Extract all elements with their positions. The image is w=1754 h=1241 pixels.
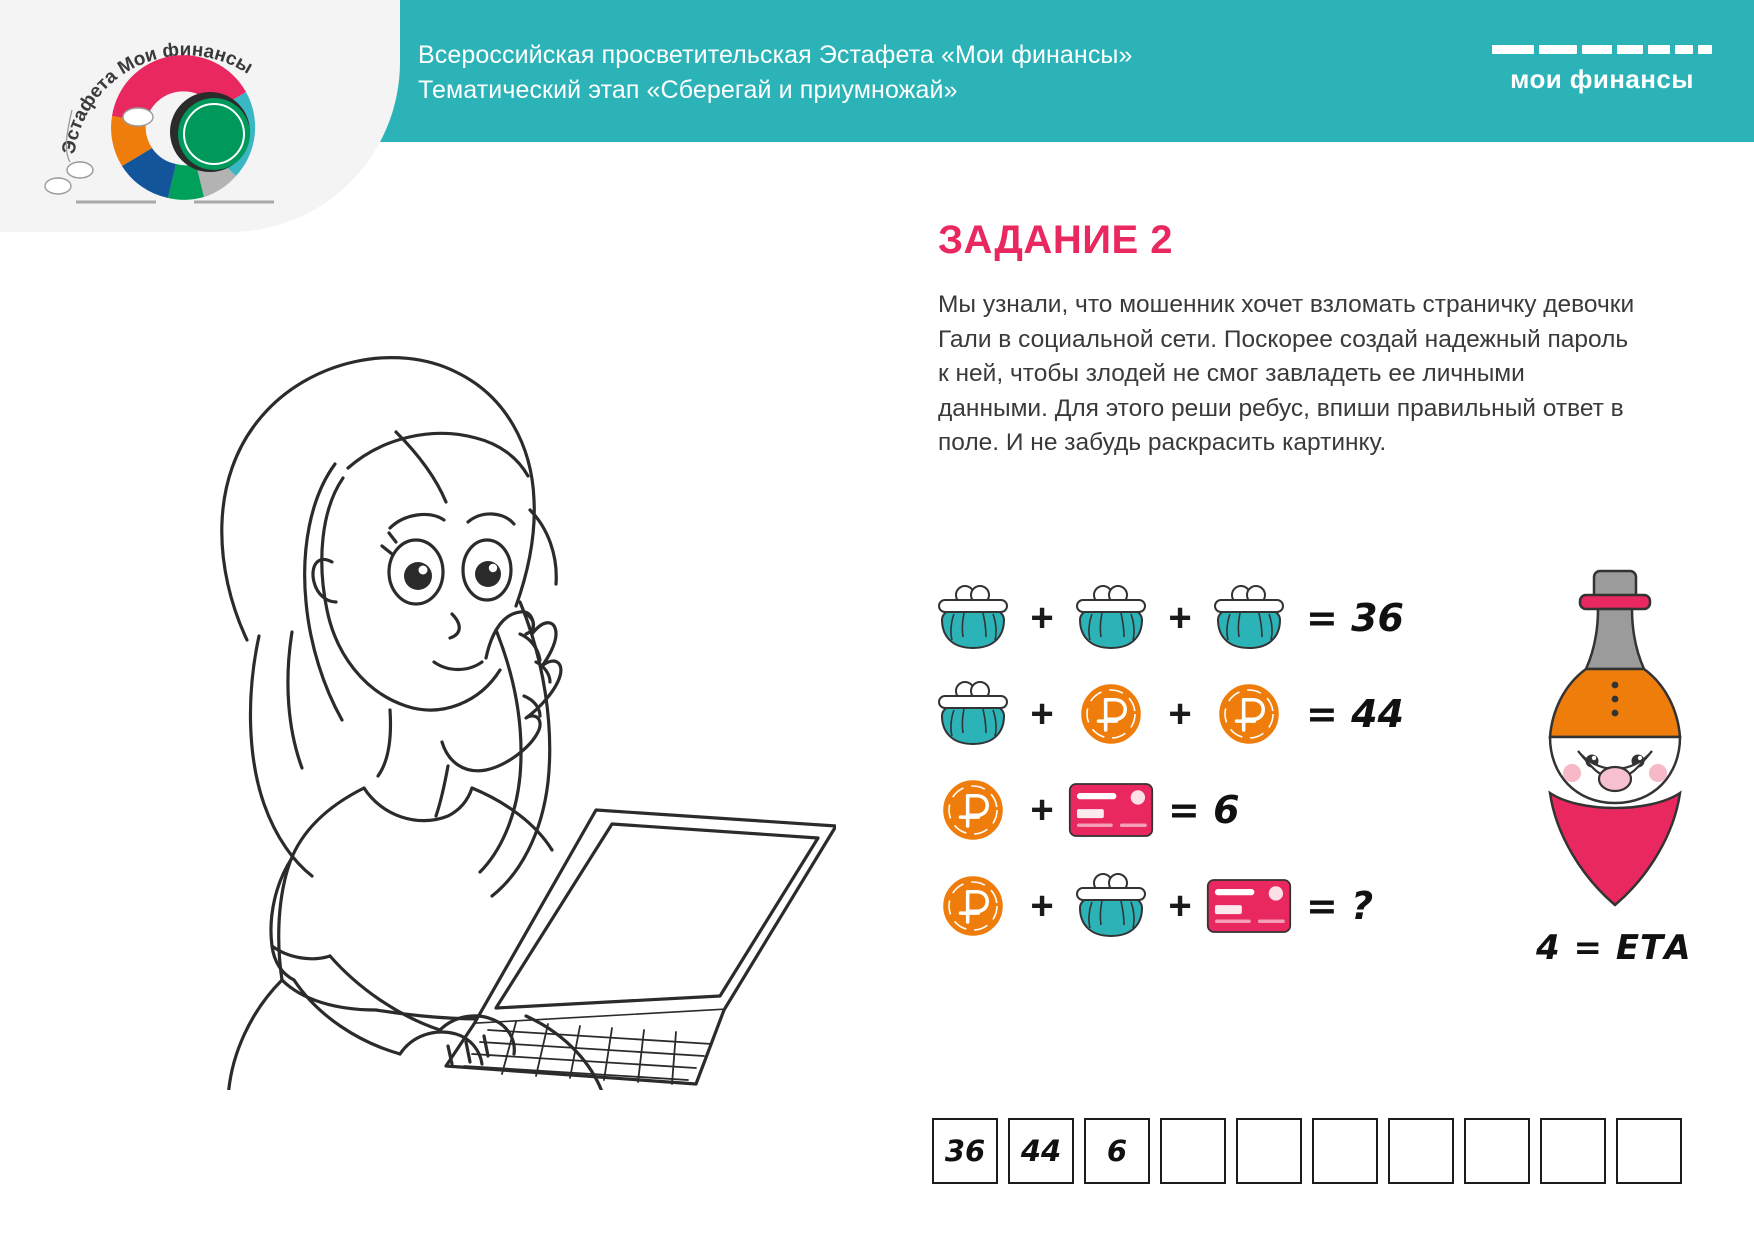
plus-sign: +	[1154, 694, 1206, 734]
equation-result: = 6	[1168, 788, 1240, 832]
answer-box-9[interactable]	[1540, 1118, 1606, 1184]
brand-dash-6	[1698, 45, 1712, 54]
girl-with-laptop-illustration	[96, 210, 836, 1090]
answer-box-2[interactable]: 44	[1008, 1118, 1074, 1184]
answer-box-row[interactable]: 36446	[932, 1118, 1682, 1184]
purse-icon	[1068, 870, 1154, 942]
purse-icon	[930, 582, 1016, 654]
ruble-coin-icon	[1068, 682, 1154, 746]
estafeta-logo: Эстафета Мои финансы	[36, 10, 336, 215]
header-title-line2: Тематический этап «Сберегай и приумножай…	[418, 73, 1133, 108]
brand-name: мои финансы	[1492, 64, 1712, 95]
puzzle-row: ++= 36	[930, 570, 1450, 666]
equation-result: = ?	[1306, 884, 1373, 928]
purse-icon	[930, 678, 1016, 750]
equation-result: = 36	[1306, 596, 1404, 640]
plus-sign: +	[1016, 694, 1068, 734]
bank-card-icon	[1068, 779, 1154, 841]
purse-icon	[1206, 582, 1292, 654]
purse-icon	[1068, 582, 1154, 654]
rebus-puzzle: ++= 36++= 44+= 6++= ?	[930, 570, 1450, 954]
plus-sign: +	[1154, 598, 1206, 638]
answer-box-4[interactable]	[1160, 1118, 1226, 1184]
answer-box-8[interactable]	[1464, 1118, 1530, 1184]
coin-chip-icon	[123, 108, 153, 126]
puzzle-row: += 6	[930, 762, 1450, 858]
brand-dash-3	[1617, 45, 1643, 54]
answer-box-3[interactable]: 6	[1084, 1118, 1150, 1184]
equation-result: = 44	[1306, 692, 1404, 736]
gnome-illustration	[1520, 565, 1710, 915]
answer-box-7[interactable]	[1388, 1118, 1454, 1184]
answer-box-1[interactable]: 36	[932, 1118, 998, 1184]
logo-donut	[111, 55, 255, 200]
ruble-coin-icon	[930, 778, 1016, 842]
gnome-hint-caption: 4 = ЕТА	[1536, 928, 1692, 968]
answer-box-5[interactable]	[1236, 1118, 1302, 1184]
plus-sign: +	[1154, 886, 1206, 926]
brand-dash-5	[1675, 45, 1693, 54]
brand-dash-2	[1582, 45, 1612, 54]
header-title-line1: Всероссийская просветительская Эстафета …	[418, 38, 1133, 73]
ruble-coin-icon	[1206, 682, 1292, 746]
page-title: ЗАДАНИЕ 2	[938, 218, 1173, 263]
puzzle-row: ++= 44	[930, 666, 1450, 762]
brand-dash-4	[1648, 45, 1670, 54]
coin-chip-icon	[67, 162, 93, 178]
task-description: Мы узнали, что мошенник хочет взломать с…	[938, 288, 1638, 461]
plus-sign: +	[1016, 886, 1068, 926]
plus-sign: +	[1016, 790, 1068, 830]
puzzle-row: ++= ?	[930, 858, 1450, 954]
bank-card-icon	[1206, 875, 1292, 937]
brand-block: мои финансы	[1492, 45, 1712, 95]
answer-box-10[interactable]	[1616, 1118, 1682, 1184]
plus-sign: +	[1016, 598, 1068, 638]
brand-dash-1	[1539, 45, 1577, 54]
header-title: Всероссийская просветительская Эстафета …	[418, 38, 1133, 108]
brand-dash-0	[1492, 45, 1534, 54]
ruble-coin-icon	[930, 874, 1016, 938]
coin-chip-icon	[45, 178, 71, 194]
answer-box-6[interactable]	[1312, 1118, 1378, 1184]
brand-dashes-icon	[1492, 45, 1712, 54]
worksheet-page: Всероссийская просветительская Эстафета …	[0, 0, 1754, 1241]
